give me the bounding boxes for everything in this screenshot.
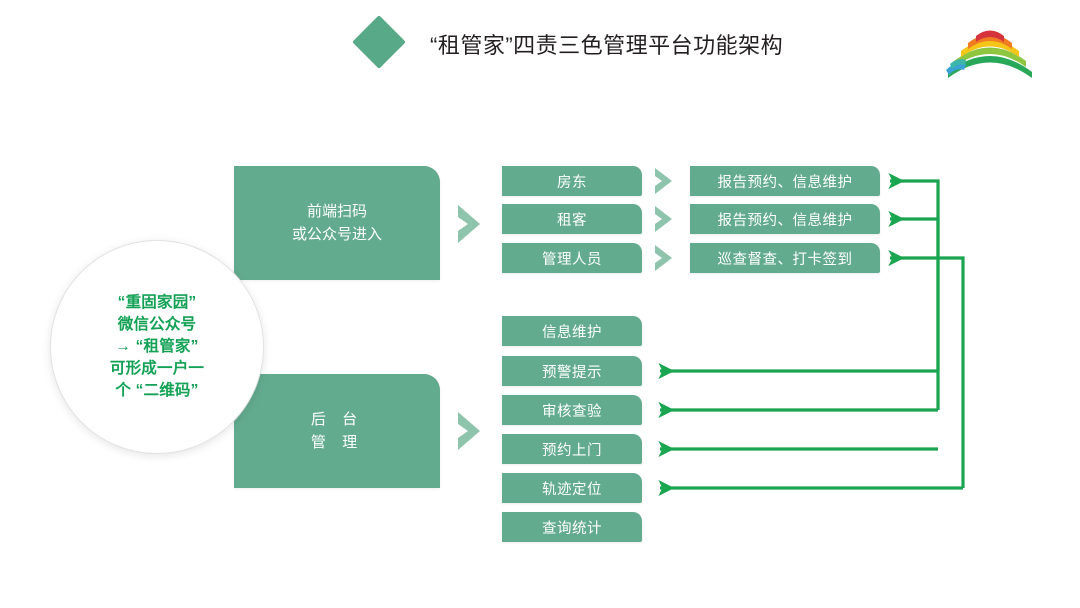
pill-role-landlord[interactable]: 房东 (502, 166, 642, 196)
chevron-front-to-roles (456, 203, 490, 245)
page-title: “租管家”四责三色管理平台功能架构 (430, 28, 783, 60)
pill-function-warning-alert[interactable]: 预警提示 (502, 356, 642, 386)
chevron-role-2 (652, 204, 682, 234)
pill-task-manager[interactable]: 巡查督查、打卡签到 (690, 243, 880, 273)
pill-function-query-statistics[interactable]: 查询统计 (502, 512, 642, 542)
circle-badge[interactable]: “重固家园” 微信公众号 → “租管家” 可形成一户一 个 “二维码” (50, 240, 264, 454)
panel-back-office[interactable]: 后 台 管 理 (234, 374, 440, 488)
pill-task-tenant[interactable]: 报告预约、信息维护 (690, 204, 880, 234)
connector-audit-to-task-tenant (890, 219, 938, 410)
pill-role-tenant[interactable]: 租客 (502, 204, 642, 234)
chevron-role-3 (652, 243, 682, 273)
pill-task-landlord[interactable]: 报告预约、信息维护 (690, 166, 880, 196)
connector-tracking-to-task-manager (890, 258, 963, 488)
pill-function-info-maintenance[interactable]: 信息维护 (502, 316, 642, 346)
slide-canvas: “租管家”四责三色管理平台功能架构 (0, 0, 1080, 608)
chevron-back-to-functions (456, 410, 490, 452)
pill-function-audit-check[interactable]: 审核查验 (502, 395, 642, 425)
circle-badge-text: “重固家园” 微信公众号 → “租管家” 可形成一户一 个 “二维码” (110, 292, 204, 402)
pill-function-track-location[interactable]: 轨迹定位 (502, 473, 642, 503)
pill-role-manager[interactable]: 管理人员 (502, 243, 642, 273)
chevron-role-1 (652, 166, 682, 196)
connector-warning-to-task-landlord (890, 181, 938, 371)
diamond-bullet-icon (352, 15, 406, 69)
panel-front-entry[interactable]: 前端扫码 或公众号进入 (234, 166, 440, 280)
brand-chevron-logo-icon (944, 20, 1036, 82)
pill-function-appointment-visit[interactable]: 预约上门 (502, 434, 642, 464)
